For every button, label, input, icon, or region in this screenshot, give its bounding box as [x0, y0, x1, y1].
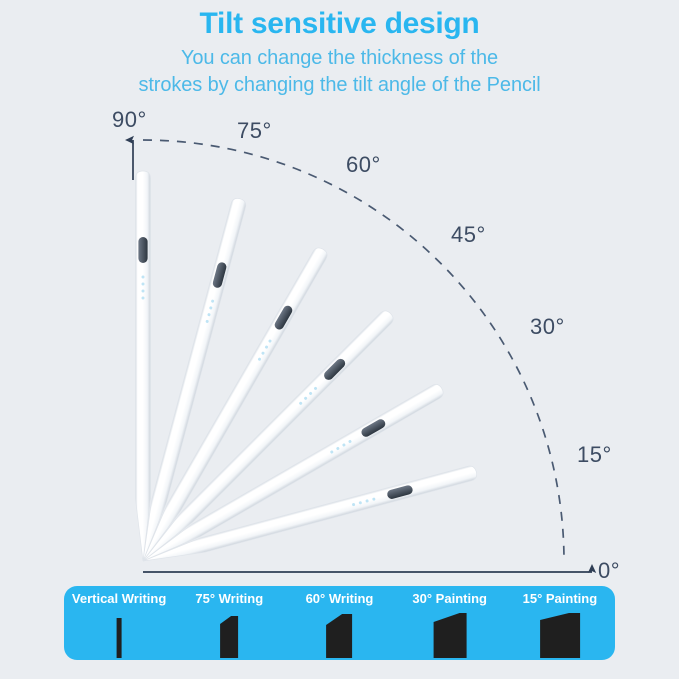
angle-label-90deg: 90° — [112, 107, 147, 133]
angle-label-0deg: 0° — [598, 558, 620, 584]
stroke-sample-swatch — [505, 613, 615, 658]
angle-label-15deg: 15° — [577, 442, 612, 468]
stroke-sample-cell: Vertical Writing — [64, 586, 174, 660]
angle-label-45deg: 45° — [451, 222, 486, 248]
stroke-thickness-banner: Vertical Writing75° Writing60° Writing30… — [64, 586, 615, 660]
stroke-sample-label: Vertical Writing — [64, 591, 174, 606]
angle-label-60deg: 60° — [346, 152, 381, 178]
stroke-sample-label: 60° Writing — [284, 591, 394, 606]
stroke-sample-label: 30° Painting — [395, 591, 505, 606]
stroke-sample-swatch — [284, 613, 394, 658]
stroke-sample-label: 15° Painting — [505, 591, 615, 606]
stroke-sample-shape — [540, 613, 580, 658]
stroke-sample-shape — [433, 613, 466, 658]
stroke-sample-shape — [117, 618, 122, 658]
pencil-led-dot — [142, 290, 145, 293]
pencil-highlight — [156, 206, 234, 496]
pencil-group — [136, 171, 479, 568]
pencil-90 — [136, 171, 151, 561]
stroke-sample-cell: 75° Writing — [174, 586, 284, 660]
pencil-port — [138, 237, 147, 263]
angle-label-75deg: 75° — [237, 118, 272, 144]
infographic-page: Tilt sensitive design You can change the… — [0, 0, 679, 679]
stroke-sample-cell: 60° Writing — [284, 586, 394, 660]
angle-label-30deg: 30° — [530, 314, 565, 340]
stroke-sample-swatch — [395, 613, 505, 658]
stroke-sample-shape — [326, 614, 352, 658]
stroke-sample-shape — [220, 616, 238, 658]
tilt-angle-fan-diagram: 90°75°60°45°30°15°0° — [0, 0, 679, 679]
stroke-sample-cell: 30° Painting — [395, 586, 505, 660]
stroke-sample-cell: 15° Painting — [505, 586, 615, 660]
pencil-led-dot — [142, 276, 145, 279]
stroke-sample-label: 75° Writing — [174, 591, 284, 606]
pencil-led-dot — [142, 283, 145, 286]
stroke-sample-swatch — [64, 613, 174, 658]
stroke-sample-swatch — [174, 613, 284, 658]
pencil-led-dot — [142, 297, 145, 300]
